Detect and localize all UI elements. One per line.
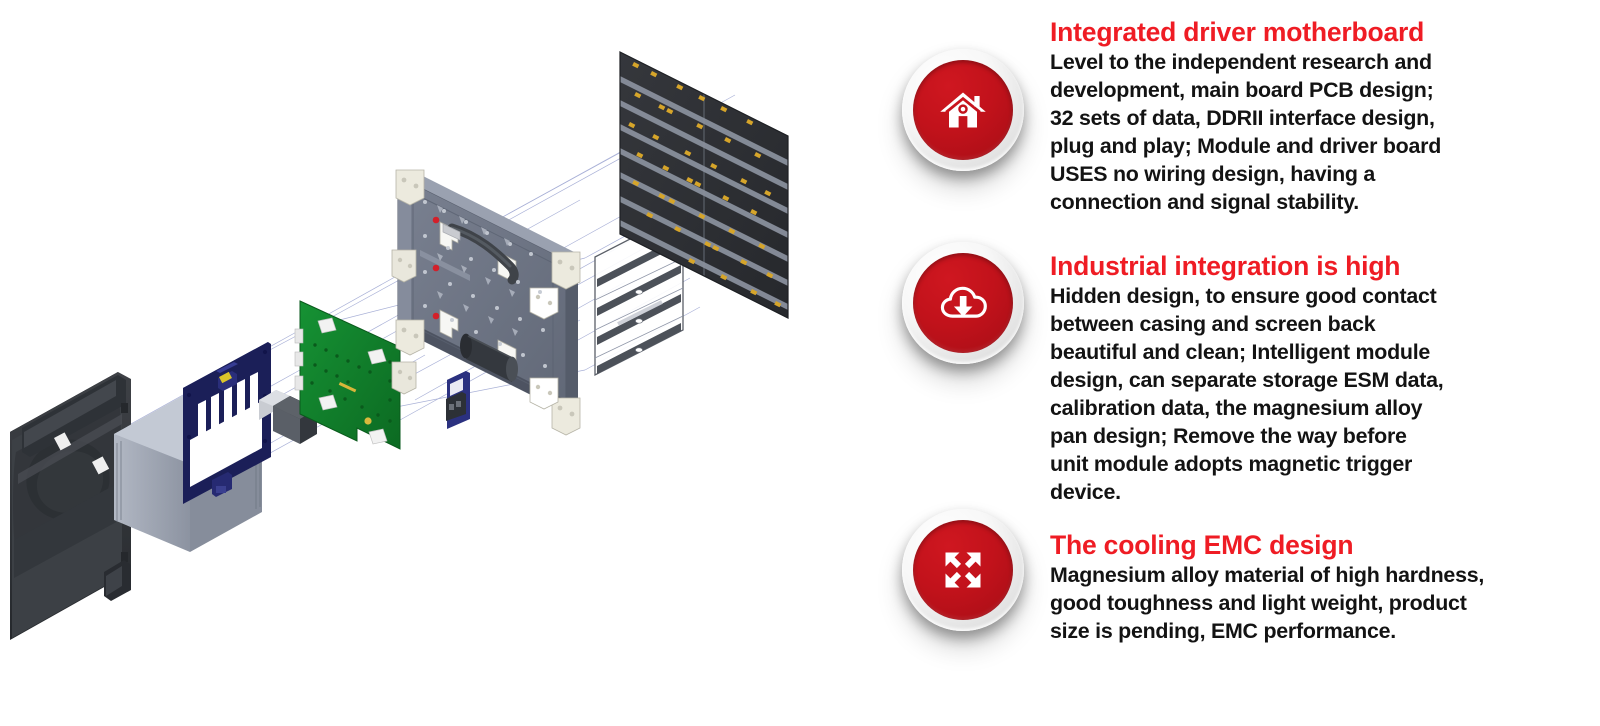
feature-badge-3[interactable] <box>902 509 1024 631</box>
feature-text-1: Integrated driver motherboard Level to t… <box>1050 18 1570 217</box>
part-small-blue-connector <box>446 371 470 429</box>
feature-body-2: Hidden design, to ensure good contact be… <box>1050 283 1570 506</box>
feature-heading-2: Industrial integration is high <box>1050 252 1570 281</box>
feature-text-3: The cooling EMC design Magnesium alloy m… <box>1050 531 1570 646</box>
feature-body-3: Magnesium alloy material of high hardnes… <box>1050 562 1570 646</box>
badge-disc <box>913 60 1013 160</box>
badge-disc <box>913 253 1013 353</box>
feature-heading-3: The cooling EMC design <box>1050 531 1570 560</box>
part-rear-back-cover <box>10 372 131 640</box>
feature-badge-1[interactable] <box>902 49 1024 171</box>
slide-canvas: Integrated driver motherboard Level to t… <box>0 0 1600 726</box>
feature-heading-1: Integrated driver motherboard <box>1050 18 1570 47</box>
badge-disc <box>913 520 1013 620</box>
feature-badge-2[interactable] <box>902 242 1024 364</box>
feature-text-2: Industrial integration is high Hidden de… <box>1050 252 1570 507</box>
expand-arrows-icon <box>935 542 991 598</box>
feature-list: Integrated driver motherboard Level to t… <box>860 0 1600 726</box>
home-icon <box>935 82 991 138</box>
exploded-assembly-illustration <box>0 0 860 726</box>
part-chassis-frame-plate <box>392 170 580 435</box>
feature-body-1: Level to the independent research and de… <box>1050 49 1570 217</box>
cloud-download-icon <box>935 275 991 331</box>
